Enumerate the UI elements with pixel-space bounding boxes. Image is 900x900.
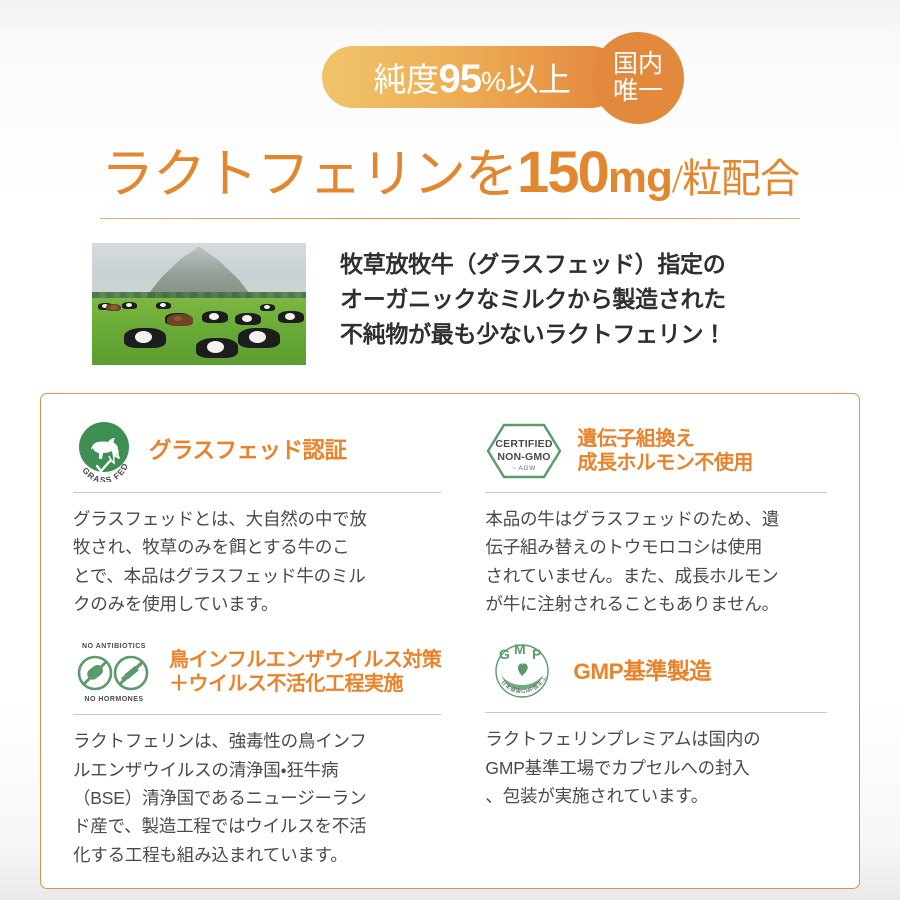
gmp-certified-badge-icon: G M P 日本健康GMP推定工場製品: [485, 641, 559, 701]
feature-title-line-2: ＋ウイルス不活化工程実施: [169, 672, 441, 696]
feature-body-line: されていません。また、成長ホルモン: [485, 562, 827, 590]
intro-section: 牧草放牧牛（グラスフェッド）指定の オーガニックなミルクから製造された 不純物が…: [0, 219, 900, 365]
photo-cow: [260, 304, 275, 311]
badge-line-2: NON-GMO: [498, 451, 551, 463]
badge-letter-m: M: [514, 641, 526, 657]
intro-text: 牧草放牧牛（グラスフェッド）指定の オーガニックなミルクから製造された 不純物が…: [340, 243, 726, 352]
feature-body-line: ラクトフェリンは、強毒性の鳥インフ: [73, 727, 441, 755]
badge-bottom-label: NO HORMONES: [84, 696, 143, 703]
intro-line-2: オーガニックなミルクから製造された: [340, 282, 726, 317]
feature-body-line: とで、本品はグラスフェッド牛のミル: [73, 562, 441, 590]
feature-header: G M P 日本健康GMP推定工場製品 GMP基準製造: [485, 640, 827, 702]
headline-amount: 150: [517, 140, 608, 205]
feature-header: CERTIFIED NON-GMO ~ AGW 遺伝子組換え 成長ホルモン不使用: [485, 420, 827, 482]
feature-header: NO ANTIBIOTICS NO HORMONES: [73, 640, 441, 704]
feature-body-line: 伝子組み替えのトウモロコシは使用: [485, 533, 827, 561]
page-title: ラクトフェリンを150mg/粒配合: [0, 132, 900, 208]
purity-ribbon-text: 純度95%以上: [374, 53, 571, 102]
feature-divider: [73, 492, 441, 493]
feature-non-gmo: CERTIFIED NON-GMO ~ AGW 遺伝子組換え 成長ホルモン不使用…: [477, 420, 835, 618]
headline-unit: mg: [608, 153, 672, 202]
feature-body: 本品の牛はグラスフェッドのため、遺 伝子組み替えのトウモロコシは使用 されていま…: [485, 505, 827, 618]
domestic-only-badge-text: 国内 唯一: [613, 51, 663, 105]
feature-body-line: （BSE）清浄国であるニュージーラン: [73, 784, 441, 812]
badge-letter-p: P: [532, 646, 541, 662]
domestic-only-line-2: 唯一: [613, 78, 663, 105]
feature-body-line: 化する工程も組み込まれています。: [73, 841, 441, 869]
feature-panel: GRASS FED グラスフェッド認証 グラスフェッドとは、大自然の中で放 牧さ…: [40, 393, 860, 889]
intro-line-1: 牧草放牧牛（グラスフェッド）指定の: [340, 247, 726, 282]
badge-line-3: ~ AGW: [513, 465, 537, 472]
feature-body-line: ルエンザウイルスの清浄国・狂牛病: [73, 756, 441, 784]
feature-body-line: 本品の牛はグラスフェッドのため、遺: [485, 505, 827, 533]
feature-title-line-1: グラスフェッド認証: [149, 437, 347, 464]
no-antibiotics-no-hormones-badge-icon: NO ANTIBIOTICS NO HORMONES: [73, 640, 155, 704]
feature-grass-fed: GRASS FED グラスフェッド認証 グラスフェッドとは、大自然の中で放 牧さ…: [65, 420, 449, 618]
photo-cow: [106, 304, 121, 311]
feature-divider: [485, 712, 827, 713]
pasture-photo: [92, 243, 306, 365]
feature-title-line-1: 遺伝子組換え: [577, 427, 753, 451]
feature-body-line: グラスフェッドとは、大自然の中で放: [73, 505, 441, 533]
headline-divider: [100, 218, 800, 219]
photo-cow: [124, 328, 166, 348]
photo-cow: [196, 338, 238, 358]
purity-percent-sign: %: [481, 66, 505, 97]
domestic-only-line-1: 国内: [613, 51, 663, 78]
feature-body-line: ラクトフェリンプレミアムは国内の: [485, 725, 827, 753]
feature-divider: [485, 492, 827, 493]
feature-header: GRASS FED グラスフェッド認証: [73, 420, 441, 482]
photo-cow: [122, 302, 137, 309]
feature-body-line: GMP基準工場でカプセルへの封入: [485, 754, 827, 782]
purity-suffix: 以上: [505, 63, 570, 99]
purity-ribbon: 純度95%以上: [322, 46, 622, 108]
feature-body: ラクトフェリンプレミアムは国内の GMP基準工場でカプセルへの封入 、包装が実施…: [485, 725, 827, 810]
domestic-only-circle-badge: 国内 唯一: [592, 32, 684, 124]
feature-gmp: G M P 日本健康GMP推定工場製品 GMP基準製造: [477, 640, 835, 869]
feature-body-line: 、包装が実施されています。: [485, 782, 827, 810]
purity-number: 95: [439, 57, 482, 101]
feature-title-line-1: GMP基準製造: [573, 658, 711, 685]
product-feature-page: 純度95%以上 国内 唯一 ラクトフェリンを150mg/粒配合: [0, 0, 900, 900]
hero-section: 純度95%以上 国内 唯一 ラクトフェリンを150mg/粒配合: [0, 18, 900, 219]
feature-body-line: 牧され、牧草のみを餌とする牛のこ: [73, 533, 441, 561]
badge-line-1: CERTIFIED: [496, 438, 553, 450]
badge-top-label: NO ANTIBIOTICS: [82, 643, 146, 650]
grass-fed-cow-badge-icon: GRASS FED: [73, 420, 135, 482]
certified-non-gmo-badge-icon: CERTIFIED NON-GMO ~ AGW: [485, 422, 563, 480]
feature-title-line-2: 成長ホルモン不使用: [577, 451, 753, 475]
photo-cow: [238, 328, 280, 348]
feature-no-antibiotics: NO ANTIBIOTICS NO HORMONES: [65, 640, 449, 869]
intro-line-3: 不純物が最も少ないラクトフェリン！: [340, 317, 726, 352]
feature-body: ラクトフェリンは、強毒性の鳥インフ ルエンザウイルスの清浄国・狂牛病 （BSE）…: [73, 727, 441, 869]
feature-title: 遺伝子組換え 成長ホルモン不使用: [577, 427, 753, 476]
feature-title: 鳥インフルエンザウイルス対策 ＋ウイルス不活化工程実施: [169, 648, 441, 697]
headline-lead: ラクトフェリンを: [101, 146, 517, 204]
feature-body-line: ド産で、製造工程ではウイルスを不活: [73, 812, 441, 840]
headline-tail: /粒配合: [672, 156, 799, 201]
ribbon-row: 純度95%以上 国内 唯一: [0, 18, 900, 128]
photo-cow: [235, 313, 261, 325]
photo-cow: [156, 302, 171, 309]
feature-title-line-1: 鳥インフルエンザウイルス対策: [169, 648, 441, 672]
purity-prefix: 純度: [374, 63, 439, 99]
feature-body: グラスフェッドとは、大自然の中で放 牧され、牧草のみを餌とする牛のこ とで、本品…: [73, 505, 441, 618]
photo-cow: [167, 314, 193, 326]
photo-cow: [278, 311, 304, 323]
feature-divider: [73, 714, 441, 715]
badge-letter-g: G: [499, 646, 510, 662]
feature-body-line: が牛に注射されることもありません。: [485, 590, 827, 618]
feature-title: グラスフェッド認証: [149, 437, 347, 464]
feature-title: GMP基準製造: [573, 658, 711, 685]
feature-body-line: クのみを使用しています。: [73, 590, 441, 618]
photo-cow: [202, 311, 228, 323]
